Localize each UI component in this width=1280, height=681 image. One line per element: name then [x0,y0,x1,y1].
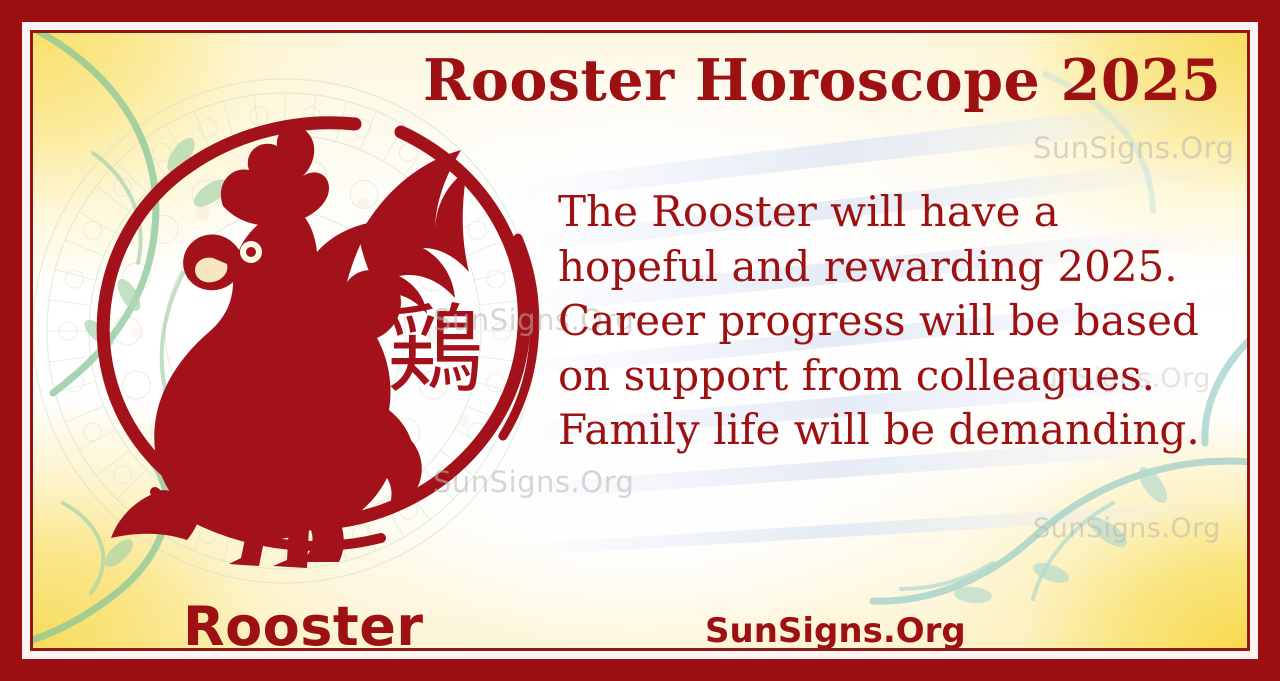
card-content-area: 鶏 SunSigns.Org SunSigns.Org SunSigns.Org… [33,33,1247,648]
rooster-eye-icon [240,241,262,263]
watermark-sunsigns-4: SunSigns.Org [1033,513,1221,544]
horoscope-body-text: The Rooster will have a hopeful and rewa… [558,185,1218,458]
watermark-sunsigns-1: SunSigns.Org [1033,131,1234,165]
brand-logo-text[interactable]: SunSigns.Org [705,611,966,648]
page-title: Rooster Horoscope 2025 [423,51,1213,110]
watermark-sunsigns-3: SunSigns.Org [433,465,634,499]
horoscope-card: 鶏 SunSigns.Org SunSigns.Org SunSigns.Org… [0,0,1280,681]
zodiac-sign-label: Rooster [183,595,424,648]
